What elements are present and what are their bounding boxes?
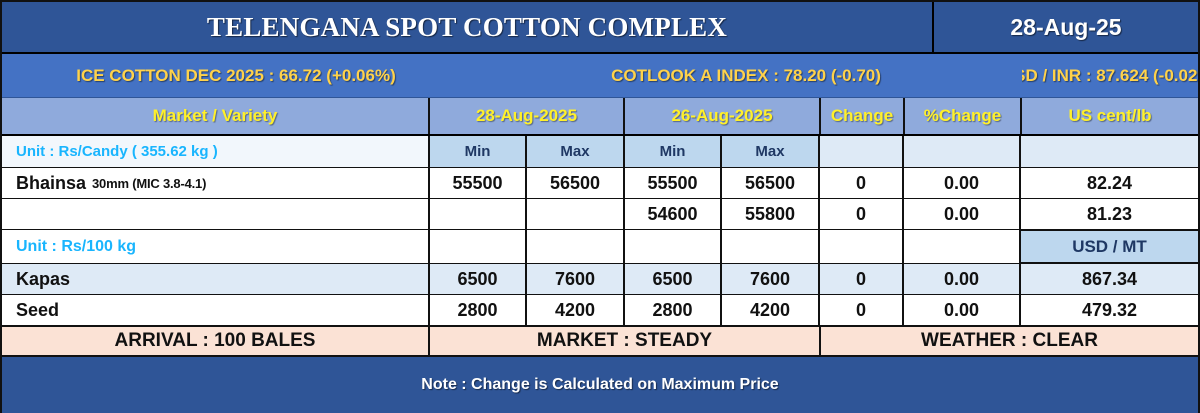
cell-max-previous: 7600	[722, 264, 820, 294]
cell-min-previous: 54600	[625, 199, 722, 229]
header-date-previous: 26-Aug-2025	[625, 98, 821, 134]
subheader-change-blank	[820, 136, 904, 167]
table-row: Kapas 6500 7600 6500 7600 0 0.00 867.34	[2, 264, 1198, 295]
unit-row-min-current-blank	[430, 230, 527, 263]
cell-pct-change: 0.00	[904, 264, 1021, 294]
status-arrival: ARRIVAL : 100 BALES	[2, 327, 430, 355]
cell-min-current: 2800	[430, 295, 527, 325]
header-pct-change: %Change	[905, 98, 1022, 134]
cell-max-previous: 4200	[722, 295, 820, 325]
table-row: Bhainsa 30mm (MIC 3.8-4.1) 55500 56500 5…	[2, 168, 1198, 199]
row-label-kapas: Kapas	[2, 264, 430, 294]
spot-cotton-complex-board: TELENGANA SPOT COTTON COMPLEX 28-Aug-25 …	[0, 0, 1200, 413]
header-usd-mt: USD / MT	[1021, 230, 1198, 263]
status-market: MARKET : STEADY	[430, 327, 821, 355]
unit-row-max-current-blank	[527, 230, 625, 263]
unit-row-min-previous-blank	[625, 230, 722, 263]
subheader-min-current: Min	[430, 136, 527, 167]
header-change: Change	[821, 98, 905, 134]
cell-pct-change: 0.00	[904, 295, 1021, 325]
cell-change: 0	[820, 168, 904, 198]
cell-usd-mt: 479.32	[1021, 295, 1198, 325]
cell-change: 0	[820, 264, 904, 294]
header-date-current: 28-Aug-2025	[430, 98, 625, 134]
report-date: 28-Aug-25	[932, 2, 1198, 52]
unit-row-pct-blank	[904, 230, 1021, 263]
cell-change: 0	[820, 295, 904, 325]
ticker-usd-inr: USD / INR : 87.624 (-0.02%)	[1022, 54, 1198, 97]
cell-max-current: 56500	[527, 168, 625, 198]
row-label-seed: Seed	[2, 295, 430, 325]
header-market-variety: Market / Variety	[2, 98, 430, 134]
cell-max-previous: 56500	[722, 168, 820, 198]
subheader-max-previous: Max	[722, 136, 820, 167]
cell-max-previous: 55800	[722, 199, 820, 229]
page-title: TELENGANA SPOT COTTON COMPLEX	[2, 2, 932, 52]
cell-us-cent: 82.24	[1021, 168, 1198, 198]
cell-usd-mt: 867.34	[1021, 264, 1198, 294]
table-row-redacted: 54600 55800 0 0.00 81.23	[2, 199, 1198, 230]
unit-100kg-row: Unit : Rs/100 kg USD / MT	[2, 230, 1198, 264]
status-row: ARRIVAL : 100 BALES MARKET : STEADY WEAT…	[2, 326, 1198, 357]
subheader-min-previous: Min	[625, 136, 722, 167]
status-weather: WEATHER : CLEAR	[821, 327, 1198, 355]
cell-max-current: 7600	[527, 264, 625, 294]
title-bar: TELENGANA SPOT COTTON COMPLEX 28-Aug-25	[2, 2, 1198, 54]
table-header-row: Market / Variety 28-Aug-2025 26-Aug-2025…	[2, 98, 1198, 136]
ticker-cotlook-index: COTLOOK A INDEX : 78.20 (-0.70)	[470, 54, 1022, 97]
header-us-cent-lb: US cent/lb	[1022, 98, 1198, 134]
redaction-block-max-current	[527, 199, 625, 229]
row-label-bhainsa: Bhainsa 30mm (MIC 3.8-4.1)	[2, 168, 430, 198]
cell-min-current: 55500	[430, 168, 527, 198]
subheader-max-current: Max	[527, 136, 625, 167]
cell-change: 0	[820, 199, 904, 229]
variety-name: Bhainsa	[16, 173, 86, 194]
unit-row-change-blank	[820, 230, 904, 263]
cell-min-previous: 2800	[625, 295, 722, 325]
note-bar: Note : Change is Calculated on Maximum P…	[2, 357, 1198, 413]
redaction-block-min-current	[430, 199, 527, 229]
ticker-ice-cotton: ICE COTTON DEC 2025 : 66.72 (+0.06%)	[2, 54, 470, 97]
cell-min-previous: 6500	[625, 264, 722, 294]
unit-row-max-previous-blank	[722, 230, 820, 263]
unit-candy-label: Unit : Rs/Candy ( 355.62 kg )	[2, 136, 430, 167]
cell-pct-change: 0.00	[904, 199, 1021, 229]
note-text: Note : Change is Calculated on Maximum P…	[421, 376, 778, 394]
cell-min-current: 6500	[430, 264, 527, 294]
redaction-block-label	[2, 199, 430, 229]
table-subheader-row: Unit : Rs/Candy ( 355.62 kg ) Min Max Mi…	[2, 136, 1198, 168]
subheader-uscent-blank	[1021, 136, 1198, 167]
unit-100kg-label: Unit : Rs/100 kg	[2, 230, 430, 263]
subheader-pct-blank	[904, 136, 1021, 167]
cell-max-current: 4200	[527, 295, 625, 325]
cell-pct-change: 0.00	[904, 168, 1021, 198]
ticker-bar: ICE COTTON DEC 2025 : 66.72 (+0.06%) COT…	[2, 54, 1198, 98]
cell-min-previous: 55500	[625, 168, 722, 198]
variety-spec: 30mm (MIC 3.8-4.1)	[92, 176, 206, 191]
table-row: Seed 2800 4200 2800 4200 0 0.00 479.32	[2, 295, 1198, 326]
cell-us-cent: 81.23	[1021, 199, 1198, 229]
